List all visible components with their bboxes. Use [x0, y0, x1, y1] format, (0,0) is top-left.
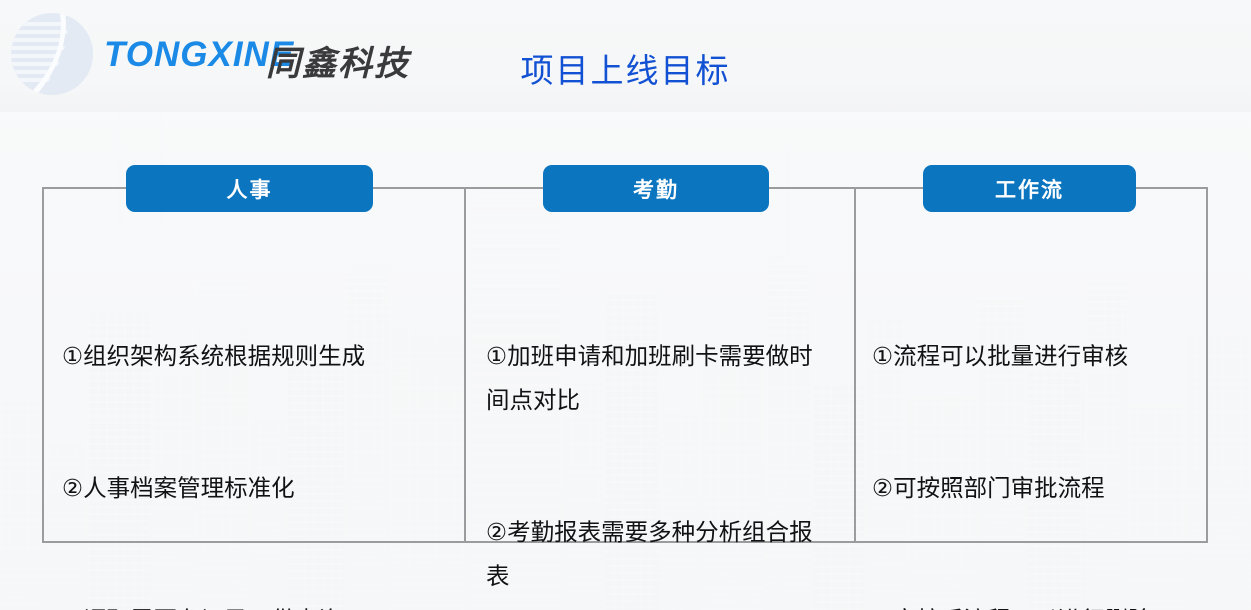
list-item: ①加班申请和加班刷卡需要做时间点对比: [486, 334, 836, 422]
column-divider-1: [464, 187, 466, 543]
column-body-workflow: ①流程可以批量进行审核 ②可按照部门审批流程 ③审核后流程可以进行删除: [872, 246, 1198, 610]
column-header-hr[interactable]: 人事: [126, 165, 373, 212]
list-item: ②可按照部门审批流程: [872, 466, 1198, 510]
list-item: ①组织架构系统根据规则生成: [62, 334, 444, 378]
list-item: ③审核后流程可以进行删除: [872, 598, 1198, 610]
list-item: ①流程可以批量进行审核: [872, 334, 1198, 378]
page-title: 项目上线目标: [0, 44, 1251, 92]
column-body-hr: ①组织架构系统根据规则生成 ②人事档案管理标准化 ③调职需要有记录可供查询 ④对…: [62, 246, 444, 610]
column-header-workflow[interactable]: 工作流: [923, 165, 1136, 212]
column-header-attendance[interactable]: 考勤: [543, 165, 769, 212]
slide-canvas: TONGXINE 同鑫科技 项目上线目标 人事 考勤 工作流 ①组织架构系统根据…: [0, 0, 1251, 610]
list-item: ②考勤报表需要多种分析组合报表: [486, 510, 836, 598]
column-divider-2: [854, 187, 856, 543]
list-item: ②人事档案管理标准化: [62, 466, 444, 510]
column-body-attendance: ①加班申请和加班刷卡需要做时间点对比 ②考勤报表需要多种分析组合报表: [486, 246, 836, 610]
list-item: ③调职需要有记录可供查询: [62, 598, 444, 610]
